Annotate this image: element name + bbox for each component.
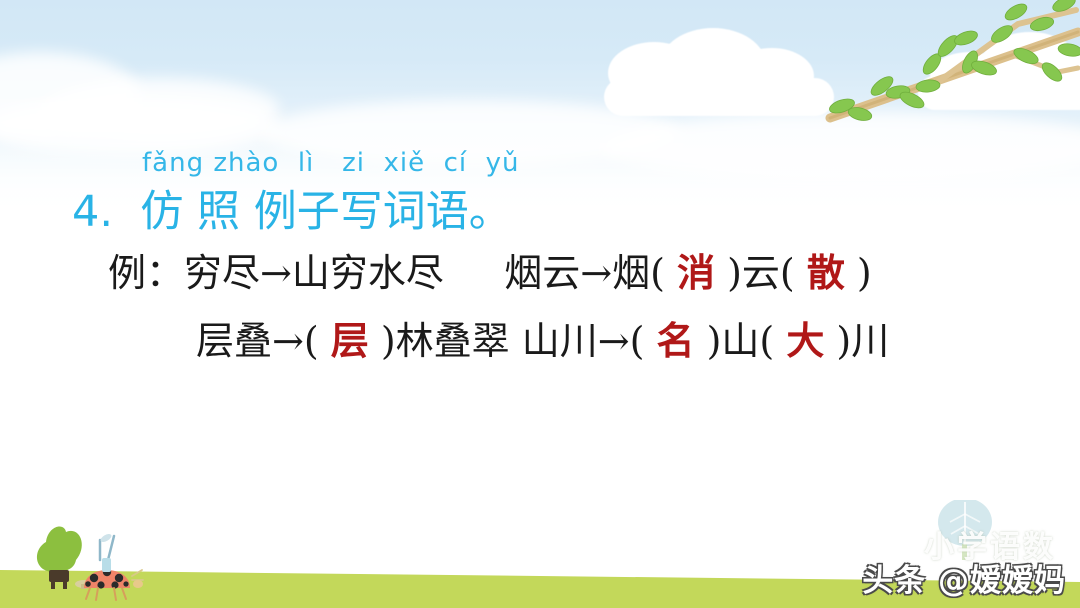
bottom-left-decoration bbox=[22, 520, 202, 608]
exercise-text: 例：穷尽→山穷水尽 烟云→烟( bbox=[108, 251, 677, 295]
exercise-text: )山( bbox=[695, 319, 787, 363]
exercise-text: ) bbox=[845, 251, 872, 295]
exercise-text: 层叠→( bbox=[196, 319, 331, 363]
ladybug-icon bbox=[84, 532, 143, 600]
slide-canvas: fǎng zhào lì zi xiě cí yǔ 4. 仿 照 例子写词语。 … bbox=[0, 0, 1080, 608]
exercise-line-1: 例：穷尽→山穷水尽 烟云→烟( 消 )云( 散 ) bbox=[108, 252, 872, 295]
exercise-text: )川 bbox=[824, 319, 889, 363]
pinyin-line: fǎng zhào lì zi xiě cí yǔ bbox=[142, 150, 520, 176]
answer-character: 层 bbox=[331, 318, 369, 363]
exercise-line-2: 层叠→( 层 )林叠翠 山川→( 名 )山( 大 )川 bbox=[196, 320, 889, 363]
exercise-text: )云( bbox=[715, 251, 807, 295]
watermark-main-text: 头条 @嫒嫒妈 bbox=[862, 555, 1066, 600]
answer-character: 大 bbox=[786, 318, 824, 363]
answer-character: 散 bbox=[807, 250, 845, 295]
answer-character: 消 bbox=[677, 250, 715, 295]
answer-character: 名 bbox=[657, 318, 695, 363]
page-title: 4. 仿 照 例子写词语。 bbox=[72, 188, 512, 237]
bush-tree-icon bbox=[37, 527, 82, 589]
exercise-text: )林叠翠 山川→( bbox=[369, 319, 657, 363]
